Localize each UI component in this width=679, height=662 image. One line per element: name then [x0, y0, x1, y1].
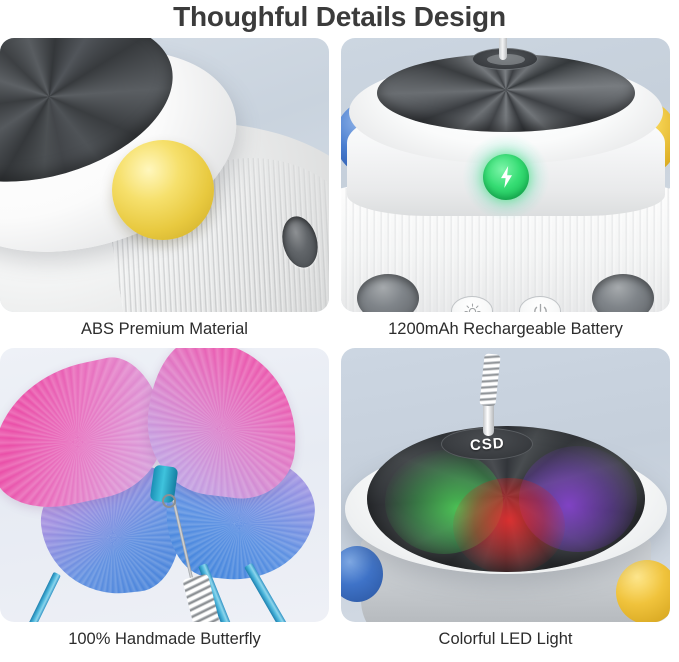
panel-caption-abs-material: ABS Premium Material: [0, 316, 329, 344]
feature-cell-colorful-led: CSD Colorful LED Light: [341, 348, 670, 656]
feature-grid: ABS Premium Material: [0, 38, 679, 662]
bolt-icon: [499, 166, 514, 188]
brand-logo: CSD: [469, 434, 505, 453]
brightness-icon: [464, 303, 481, 313]
page-title: Thoughful Details Design: [0, 0, 679, 36]
feature-cell-handmade-butterfly: 100% Handmade Butterfly: [0, 348, 329, 656]
power-icon: [532, 303, 549, 313]
yellow-ball: [112, 140, 214, 240]
product-infographic: Thoughful Details Design ABS Premium Mat…: [0, 0, 679, 662]
feature-cell-abs-material: ABS Premium Material: [0, 38, 329, 346]
ribbon-streamer: [23, 572, 61, 622]
yellow-ball: [616, 560, 670, 622]
led-glow-red: [453, 478, 565, 572]
panel-caption-colorful-led: Colorful LED Light: [341, 626, 670, 654]
panel-image-rechargeable-battery: [341, 38, 670, 312]
panel-caption-rechargeable-battery: 1200mAh Rechargeable Battery: [341, 316, 670, 344]
panel-image-colorful-led: CSD: [341, 348, 670, 622]
panel-image-abs-material: [0, 38, 329, 312]
spring-coil: [479, 353, 500, 406]
attachment-ring: [162, 494, 176, 508]
charging-indicator-led: [483, 154, 529, 200]
feature-cell-rechargeable-battery: 1200mAh Rechargeable Battery: [341, 38, 670, 346]
center-rod: [499, 38, 507, 60]
panel-image-handmade-butterfly: [0, 348, 329, 622]
panel-caption-handmade-butterfly: 100% Handmade Butterfly: [0, 626, 329, 654]
